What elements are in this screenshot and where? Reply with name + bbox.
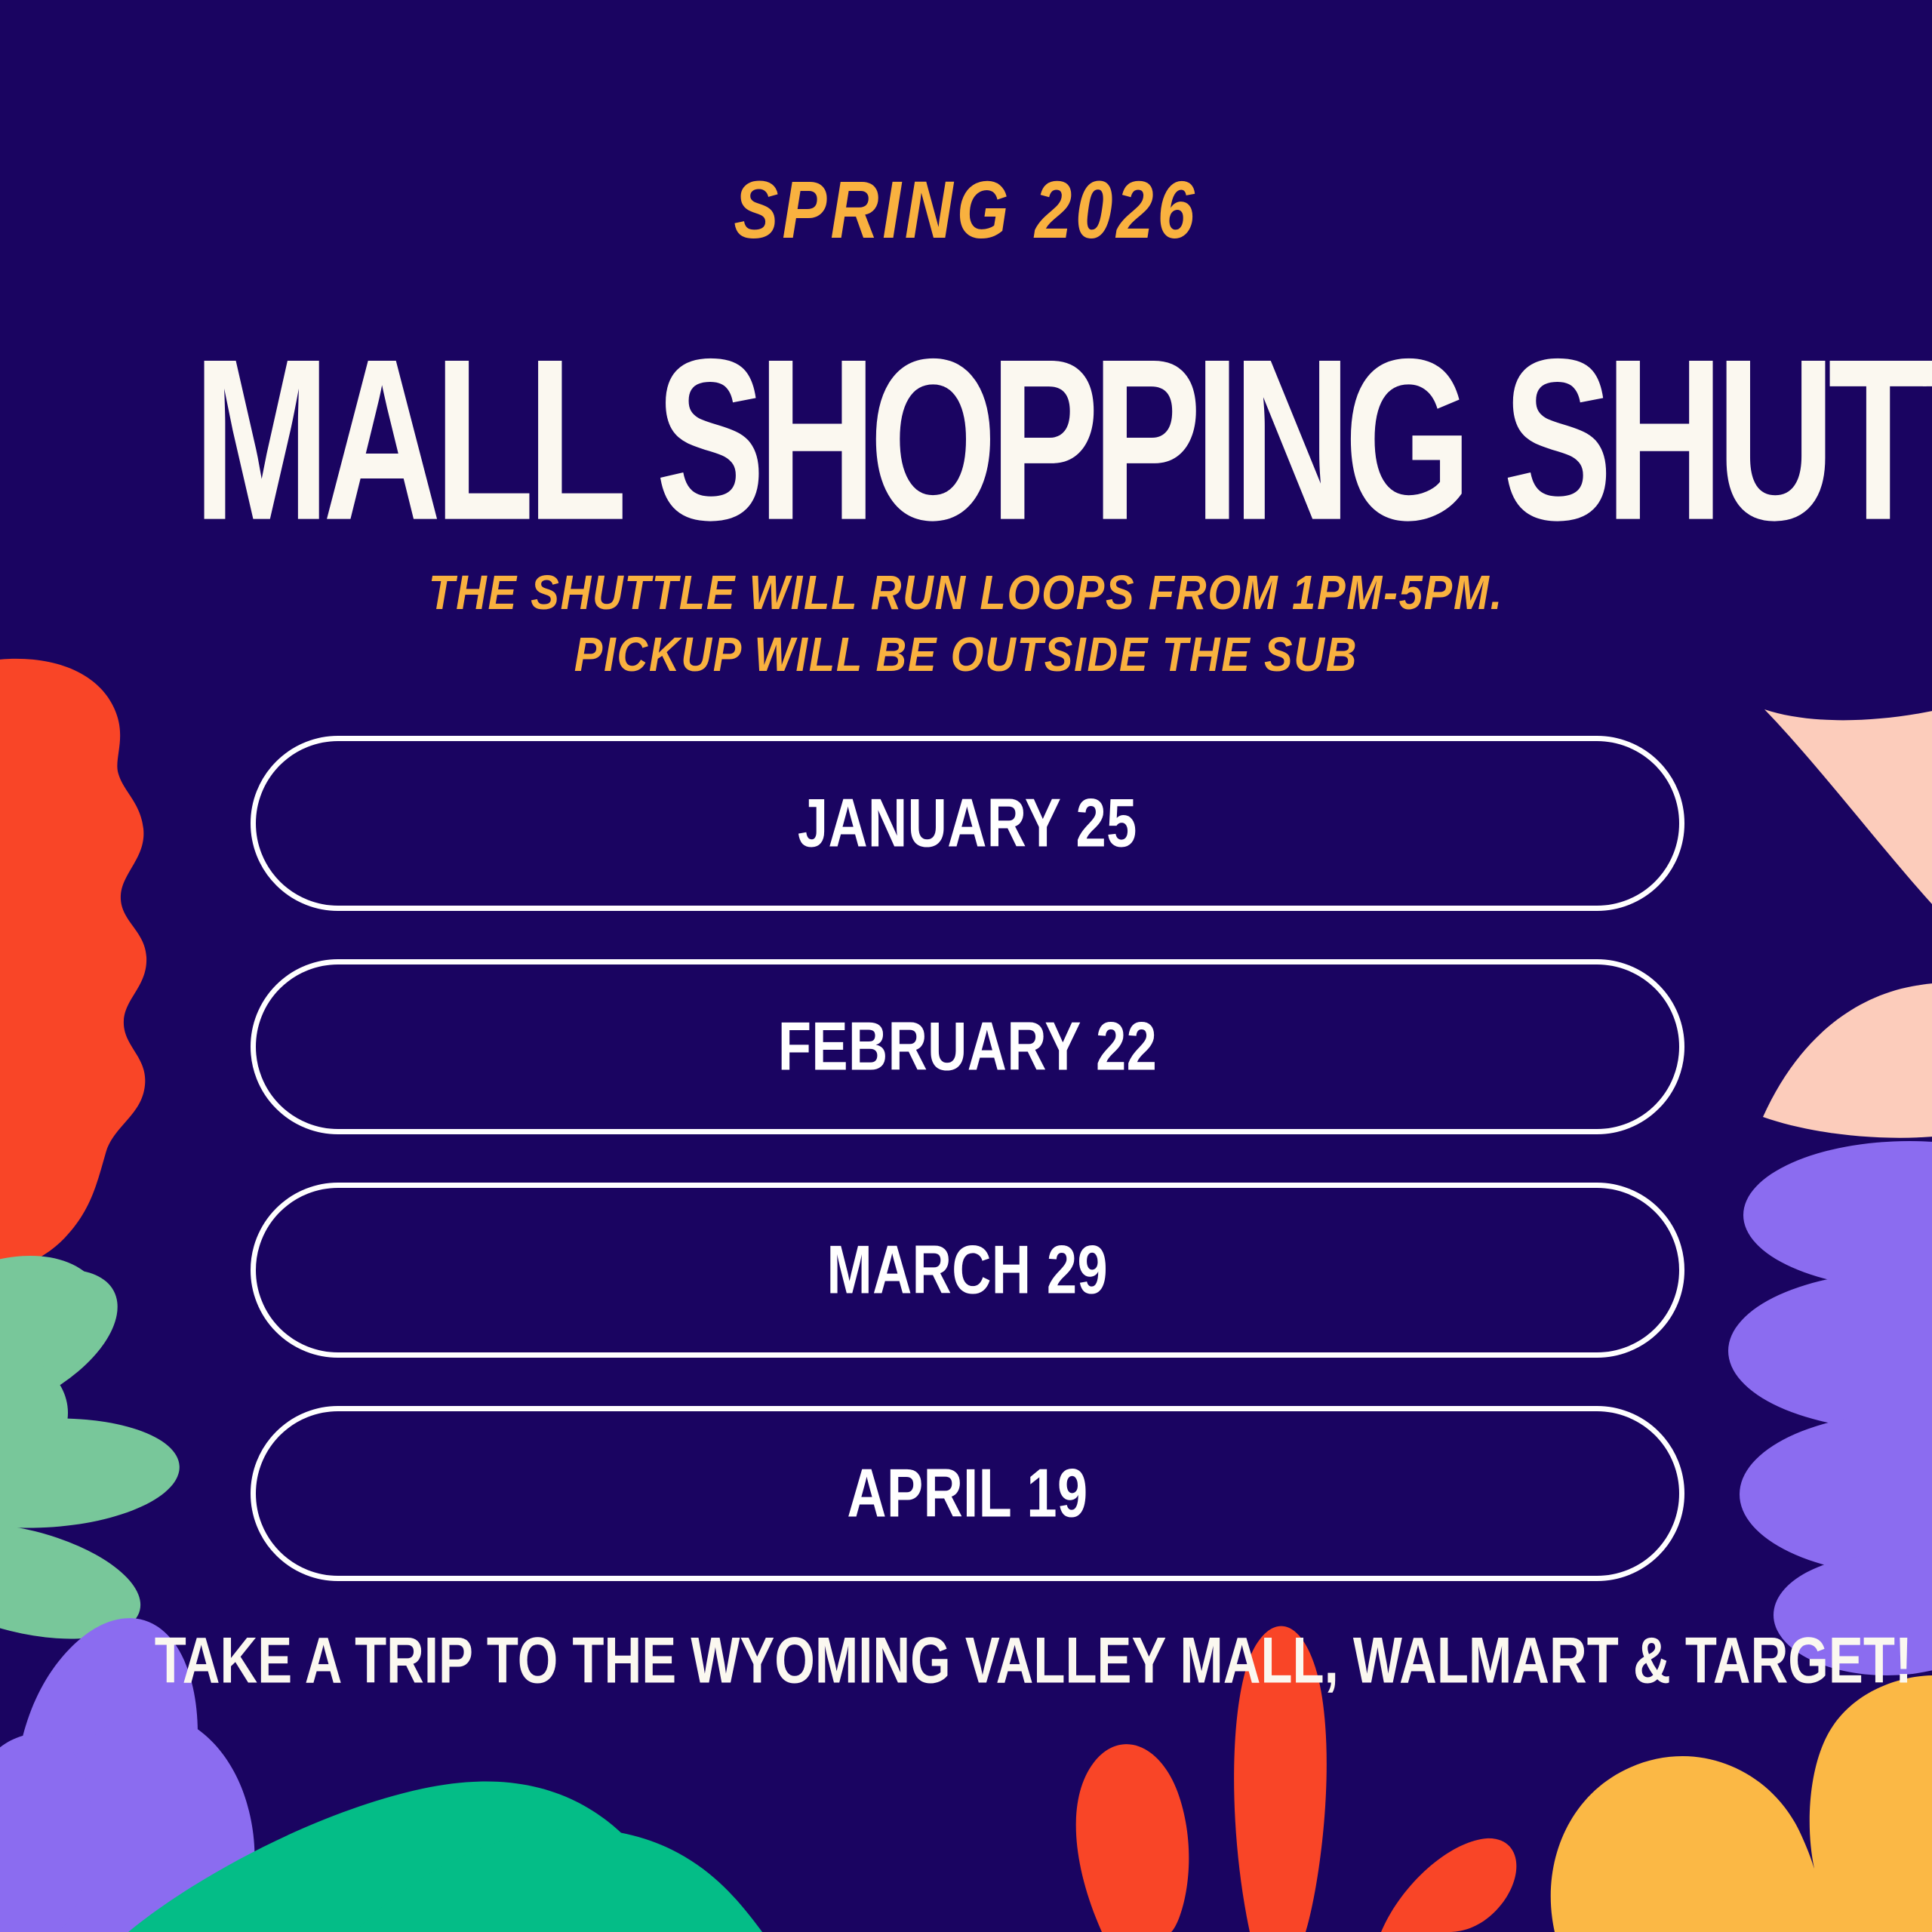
poster-canvas: SPRING 2026 MALL SHOPPING SHUTTLE THE SH… [0, 0, 1932, 1932]
eyebrow-spring-2026: SPRING 2026 [174, 162, 1758, 257]
date-pill-label: APRIL 19 [847, 1454, 1088, 1534]
subheadline-line-1: THE SHUTTLE WILL RUN LOOPS FROM 1PM-5PM. [116, 562, 1817, 624]
date-pill-label: FEBRUARY 22 [778, 1008, 1157, 1087]
date-pill-label: JANUARY 25 [798, 784, 1137, 863]
date-pill-label: MARCH 29 [827, 1231, 1109, 1310]
date-pill[interactable]: MARCH 29 [251, 1183, 1684, 1358]
date-pill[interactable]: JANUARY 25 [251, 736, 1684, 911]
date-pill-list: JANUARY 25 FEBRUARY 22 MARCH 29 APRIL 19 [251, 736, 1684, 1629]
footer-tagline: TAKE A TRIP TO THE WYOMING VALLEY MALL, … [155, 1624, 1777, 1699]
date-pill[interactable]: FEBRUARY 22 [251, 959, 1684, 1134]
date-pill[interactable]: APRIL 19 [251, 1406, 1684, 1581]
subheadline-line-2: PICKUP WILL BE OUTSIDE THE SUB [116, 624, 1817, 686]
subheadline: THE SHUTTLE WILL RUN LOOPS FROM 1PM-5PM.… [116, 562, 1817, 686]
page-title: MALL SHOPPING SHUTTLE [193, 325, 1739, 555]
